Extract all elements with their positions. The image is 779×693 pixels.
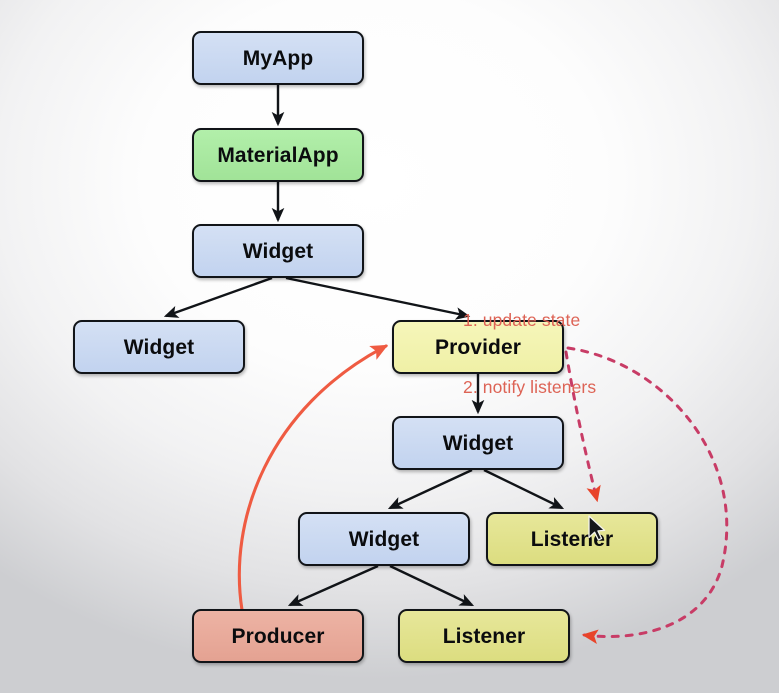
node-label: Listener xyxy=(443,626,526,647)
annotation-line-2: 2. notify listeners xyxy=(463,376,596,398)
edge-widget-root-provider xyxy=(286,278,468,316)
node-label: MyApp xyxy=(243,48,314,69)
node-label: Widget xyxy=(243,241,313,262)
node-widget-low[interactable]: Widget xyxy=(298,512,470,566)
node-label: Producer xyxy=(232,626,325,647)
annotation-line-1: 1. update state xyxy=(463,309,596,331)
node-label: MaterialApp xyxy=(217,145,338,166)
node-listener-2[interactable]: Listener xyxy=(398,609,570,663)
node-producer[interactable]: Producer xyxy=(192,609,364,663)
node-widget-root[interactable]: Widget xyxy=(192,224,364,278)
annotation-update-state: 1. update state 2. notify listeners xyxy=(463,264,596,443)
node-label: Widget xyxy=(124,337,194,358)
node-materialapp[interactable]: MaterialApp xyxy=(192,128,364,182)
edge-widget-low-producer xyxy=(290,566,378,605)
edge-widget-low-listener-2 xyxy=(390,566,472,605)
diagram-canvas: MyApp MaterialApp Widget Widget Provider… xyxy=(0,0,779,693)
edge-widget-root-widget-left xyxy=(166,278,272,316)
flow-edge-producer-to-provider xyxy=(239,346,386,610)
node-widget-left[interactable]: Widget xyxy=(73,320,245,374)
node-label: Listener xyxy=(531,529,614,550)
node-myapp[interactable]: MyApp xyxy=(192,31,364,85)
edge-widget-mid-widget-low xyxy=(390,470,472,508)
edge-widget-mid-listener-1 xyxy=(484,470,562,508)
node-label: Widget xyxy=(349,529,419,550)
node-listener-1[interactable]: Listener xyxy=(486,512,658,566)
